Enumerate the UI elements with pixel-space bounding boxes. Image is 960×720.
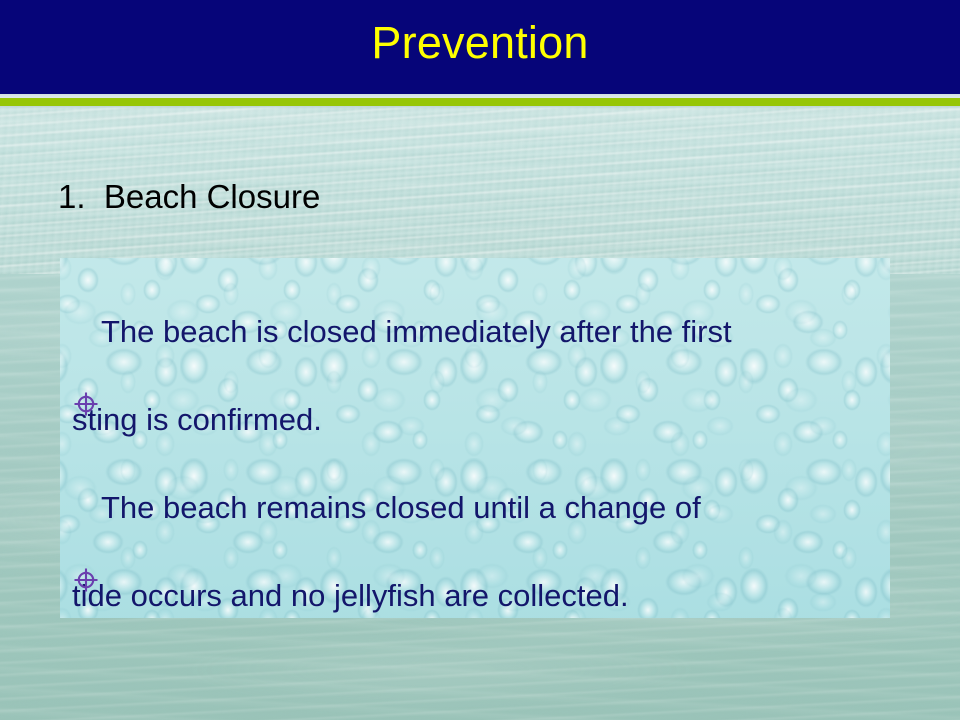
list-item-text: The beach is closed immediately after th… <box>101 314 732 350</box>
list-item-text: sting is confirmed. <box>72 402 322 438</box>
green-accent-bar <box>0 98 960 106</box>
presentation-slide: Prevention 1. Beach Closure The beach is… <box>0 0 960 720</box>
list-item: The beach is closed immediately after th… <box>72 288 890 376</box>
list-item: sting is confirmed. <box>72 376 890 464</box>
section-heading: 1. Beach Closure <box>58 176 320 218</box>
list-item-text: The beach remains closed until a change … <box>101 490 701 526</box>
title-banner: Prevention <box>0 0 960 94</box>
crosshair-bullet-icon <box>72 318 100 346</box>
crosshair-bullet-icon <box>72 494 100 522</box>
content-text-box: The beach is closed immediately after th… <box>60 258 890 618</box>
list-item-text: tide occurs and no jellyfish are collect… <box>72 578 629 614</box>
list-item: tide occurs and no jellyfish are collect… <box>72 552 890 618</box>
bullet-list: The beach is closed immediately after th… <box>60 258 890 618</box>
accent-bar-shadow <box>0 106 960 109</box>
list-item: The beach remains closed until a change … <box>72 464 890 552</box>
slide-title: Prevention <box>0 14 960 72</box>
